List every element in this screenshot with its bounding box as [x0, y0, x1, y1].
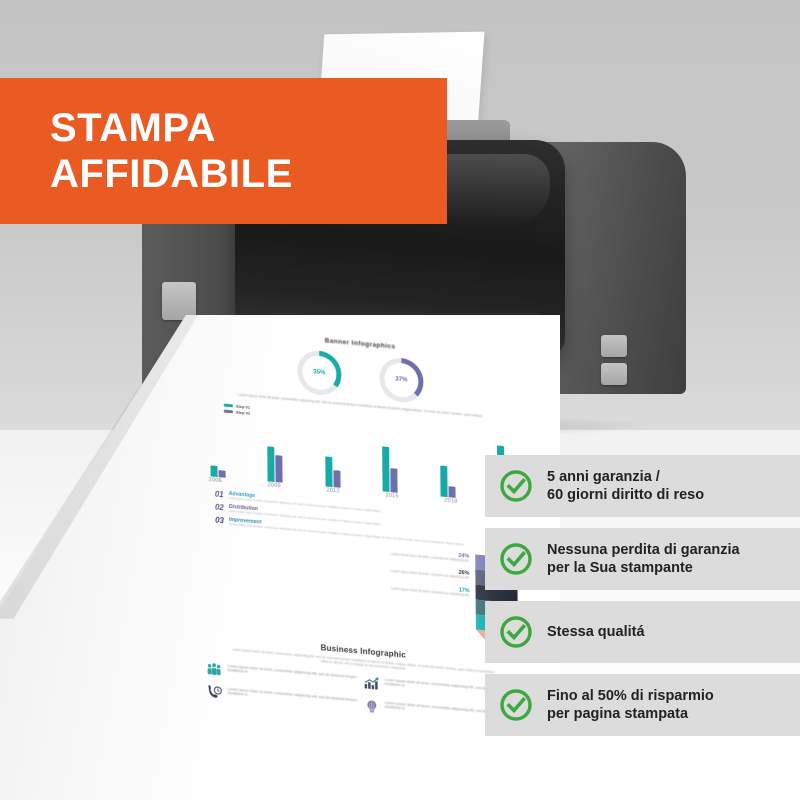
- bar: [325, 457, 332, 487]
- donut-value-2: 37%: [384, 362, 418, 399]
- pencil-labels: 24% Lorem ipsum dolor sit amet, consecte…: [211, 531, 470, 651]
- printer-button-right-bottom[interactable]: [601, 363, 627, 385]
- legend-swatch-step-01: [224, 403, 233, 407]
- check-circle-icon: [499, 469, 533, 503]
- legend-label-step-02: Step 02: [236, 409, 250, 415]
- feature-row-3[interactable]: Stessa qualitá: [485, 601, 800, 663]
- bar-group: [382, 446, 397, 492]
- feature-text-line-2: per pagina stampata: [547, 705, 714, 723]
- poster-image: Banner Infographics 35% 37% Lorem ipsum …: [0, 0, 800, 800]
- printer-button-right-top[interactable]: [601, 335, 627, 357]
- list-number: 02: [215, 503, 224, 513]
- bar: [391, 468, 398, 492]
- people-group-icon: [207, 662, 223, 677]
- poster-content: Banner Infographics 35% 37% Lorem ipsum …: [195, 322, 530, 800]
- x-tick-label: 2012: [326, 487, 339, 494]
- bar: [219, 470, 226, 478]
- bar: [440, 465, 447, 497]
- icon-feature-item: Lorem ipsum dolor sit amet, consectetur …: [207, 685, 364, 713]
- bar-group: [268, 446, 283, 482]
- check-circle-icon: [499, 542, 533, 576]
- bar-group: [325, 457, 340, 488]
- bar-group: [440, 465, 455, 497]
- headline-line-1: STAMPA: [50, 105, 447, 151]
- bar: [382, 446, 389, 492]
- icon-feature-text: Lorem ipsum dolor sit amet, consectetur …: [228, 687, 364, 709]
- list-number: 03: [215, 516, 224, 526]
- x-tick-label: 2015: [385, 492, 398, 499]
- feature-list: 5 anni garanzia / 60 giorni diritto di r…: [485, 455, 800, 736]
- feature-text-line-1: Fino al 50% di risparmio: [547, 687, 714, 705]
- x-tick-label: 2006: [209, 477, 222, 484]
- phone-clock-icon: [207, 685, 223, 700]
- list-number: 01: [215, 489, 224, 499]
- feature-text-line-1: Nessuna perdita di garanzia: [547, 541, 740, 559]
- legend-swatch-step-02: [224, 409, 233, 413]
- icon-feature-item: Lorem ipsum dolor sit amet, consectetur …: [207, 662, 364, 690]
- headline-banner: STAMPA AFFIDABILE: [0, 78, 447, 224]
- x-tick-label: 2018: [444, 497, 457, 504]
- bar-group: [210, 465, 225, 477]
- donut-chart-1: 35%: [297, 349, 341, 397]
- growth-chart-icon: [364, 675, 380, 690]
- headline-line-2: AFFIDABILE: [50, 151, 447, 197]
- feature-text-line-2: per la Sua stampante: [547, 559, 740, 577]
- bar: [333, 470, 340, 488]
- feature-text-line-1: Stessa qualitá: [547, 623, 645, 641]
- lightbulb-icon: [364, 698, 380, 713]
- printer-button-left[interactable]: [162, 282, 196, 320]
- check-circle-icon: [499, 688, 533, 722]
- x-tick-label: 2009: [268, 482, 281, 489]
- feature-row-4[interactable]: Fino al 50% di risparmio per pagina stam…: [485, 674, 800, 736]
- donut-value-1: 35%: [302, 354, 336, 391]
- icon-feature-text: Lorem ipsum dolor sit amet, consectetur …: [228, 663, 364, 685]
- bar: [210, 465, 217, 476]
- feature-row-2[interactable]: Nessuna perdita di garanzia per la Sua s…: [485, 528, 800, 590]
- feature-text-line-2: 60 giorni diritto di reso: [547, 486, 704, 504]
- feature-row-1[interactable]: 5 anni garanzia / 60 giorni diritto di r…: [485, 455, 800, 517]
- bar: [276, 455, 283, 482]
- donut-chart-2: 37%: [379, 356, 423, 404]
- check-circle-icon: [499, 615, 533, 649]
- bar: [268, 446, 275, 482]
- bar: [448, 486, 455, 497]
- feature-text-line-1: 5 anni garanzia /: [547, 468, 704, 486]
